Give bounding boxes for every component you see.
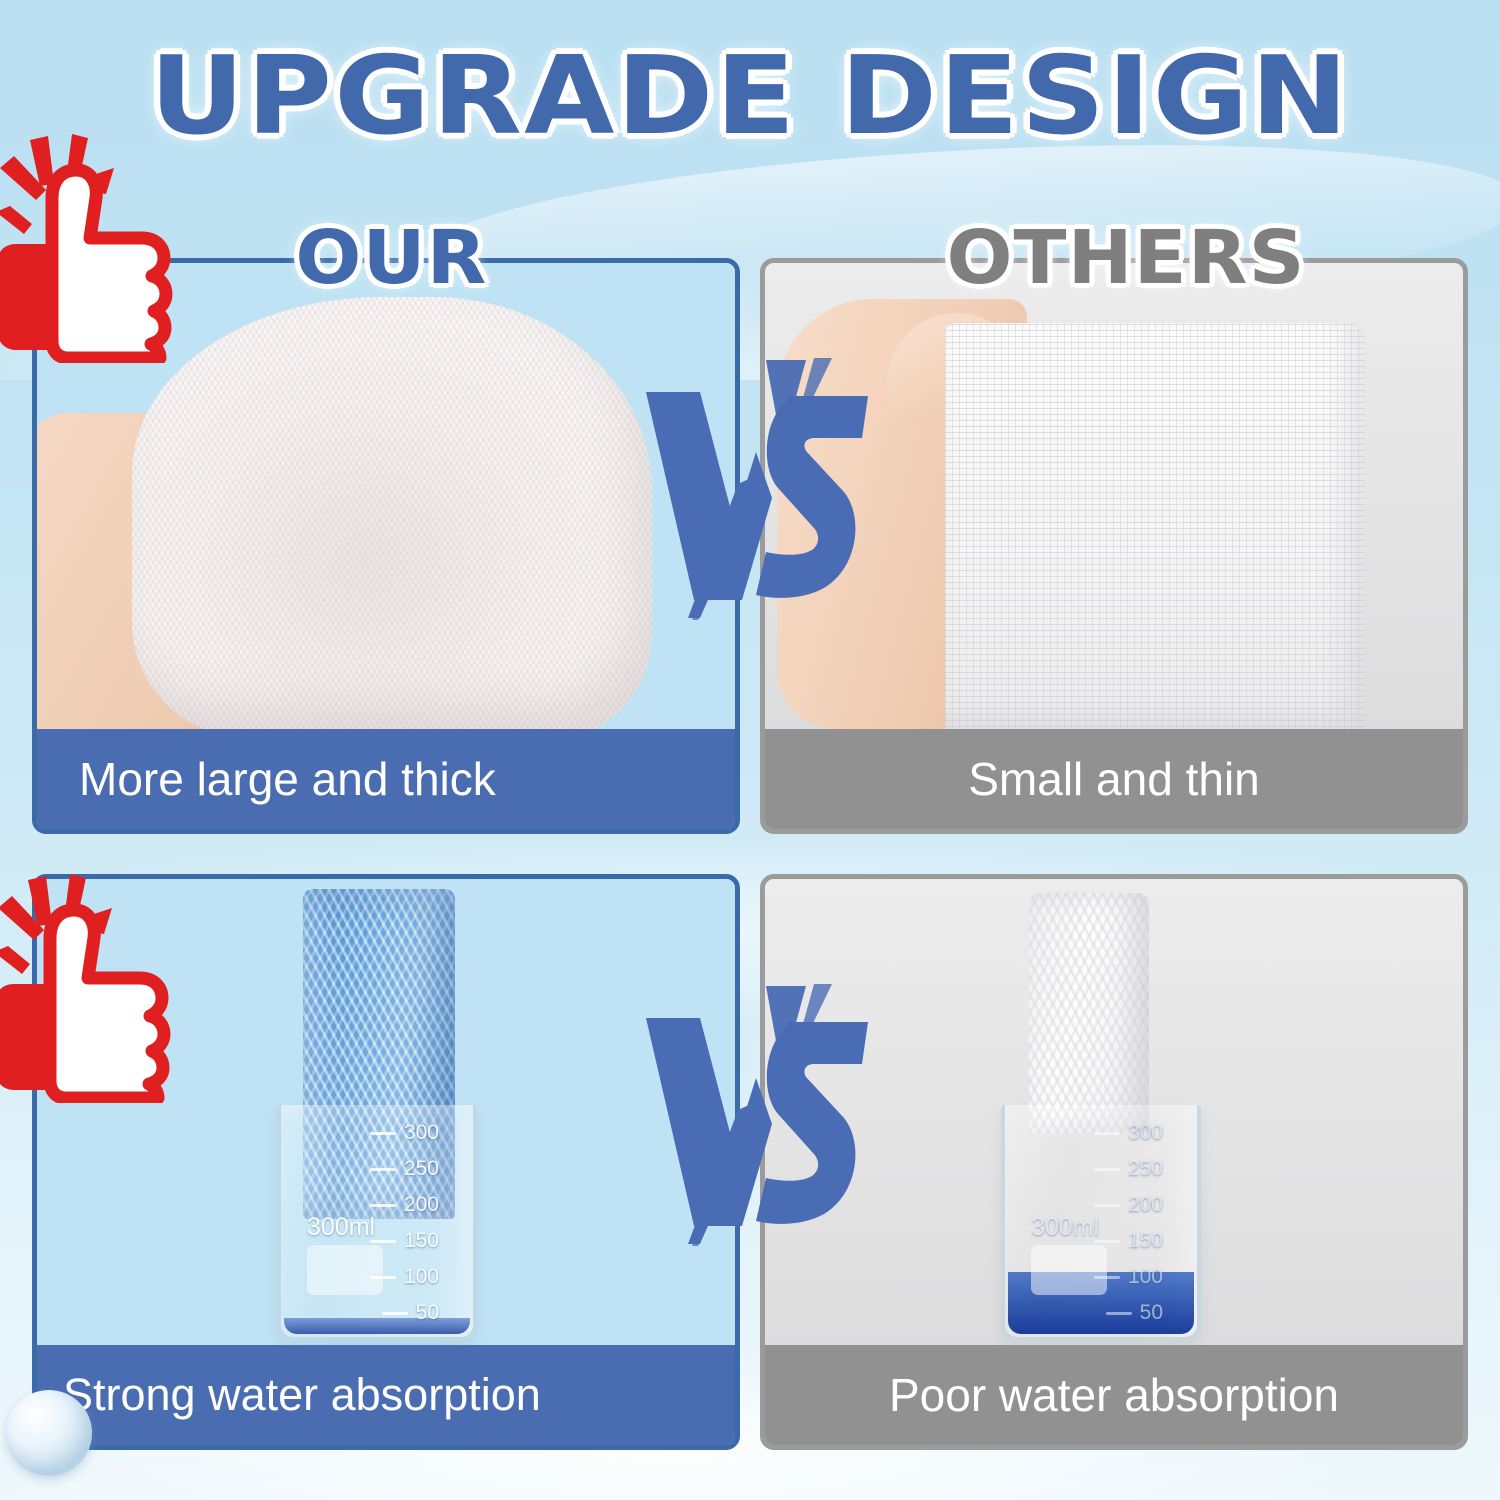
photo-poor-absorption: 300ml 300 250 200 150 100 50 — [765, 879, 1463, 1355]
column-header-our: OUR — [295, 215, 487, 301]
page-title: UPGRADE DESIGN — [0, 34, 1500, 159]
towel-roll-white — [1029, 893, 1149, 1133]
caption-small-and-thin: Small and thin — [765, 729, 1463, 829]
beaker-right: 300ml 300 250 200 150 100 50 — [1001, 1105, 1201, 1341]
beaker-tick-150: 150 — [1094, 1229, 1163, 1253]
panel-others-thickness: Small and thin — [760, 258, 1468, 834]
towel-graphic-large — [132, 297, 652, 737]
infographic-root: UPGRADE DESIGN OUR OTHERS More large and… — [0, 0, 1500, 1500]
beaker-tick-200: 200 — [1094, 1193, 1163, 1217]
beaker-tick-200: 200 — [370, 1193, 439, 1217]
column-header-others: OTHERS — [946, 215, 1305, 301]
panel-our-thickness: More large and thick — [32, 258, 740, 834]
panel-others-absorption: 300ml 300 250 200 150 100 50 Poor water … — [760, 874, 1468, 1450]
beaker-left: 300ml 300 250 200 150 100 50 — [277, 1105, 477, 1341]
beaker-tick-250: 250 — [370, 1157, 439, 1181]
photo-strong-absorption: 300ml 300 250 200 150 100 50 — [37, 879, 735, 1355]
towel-graphic-small — [945, 323, 1365, 739]
caption-poor-water-absorption: Poor water absorption — [765, 1345, 1463, 1445]
beaker-tick-100: 100 — [1094, 1265, 1163, 1289]
beaker-tick-300: 300 — [370, 1121, 439, 1145]
beaker-tick-150: 150 — [370, 1229, 439, 1253]
photo-large-thick-towel — [37, 263, 735, 739]
panel-our-absorption: 300ml 300 250 200 150 100 50 Strong wate… — [32, 874, 740, 1450]
beaker-tick-300: 300 — [1094, 1121, 1163, 1145]
water-droplet-icon — [6, 1390, 92, 1476]
beaker-tick-100: 100 — [370, 1265, 439, 1289]
beaker-tick-50: 50 — [382, 1301, 439, 1325]
caption-more-large-and-thick: More large and thick — [37, 729, 735, 829]
photo-small-thin-towel — [765, 263, 1463, 739]
beaker-scale: 300 250 200 150 100 50 — [319, 1121, 439, 1321]
beaker-scale: 300 250 200 150 100 50 — [1043, 1121, 1163, 1321]
beaker-tick-250: 250 — [1094, 1157, 1163, 1181]
beaker-tick-50: 50 — [1106, 1301, 1163, 1325]
caption-strong-water-absorption: Strong water absorption — [37, 1345, 735, 1445]
